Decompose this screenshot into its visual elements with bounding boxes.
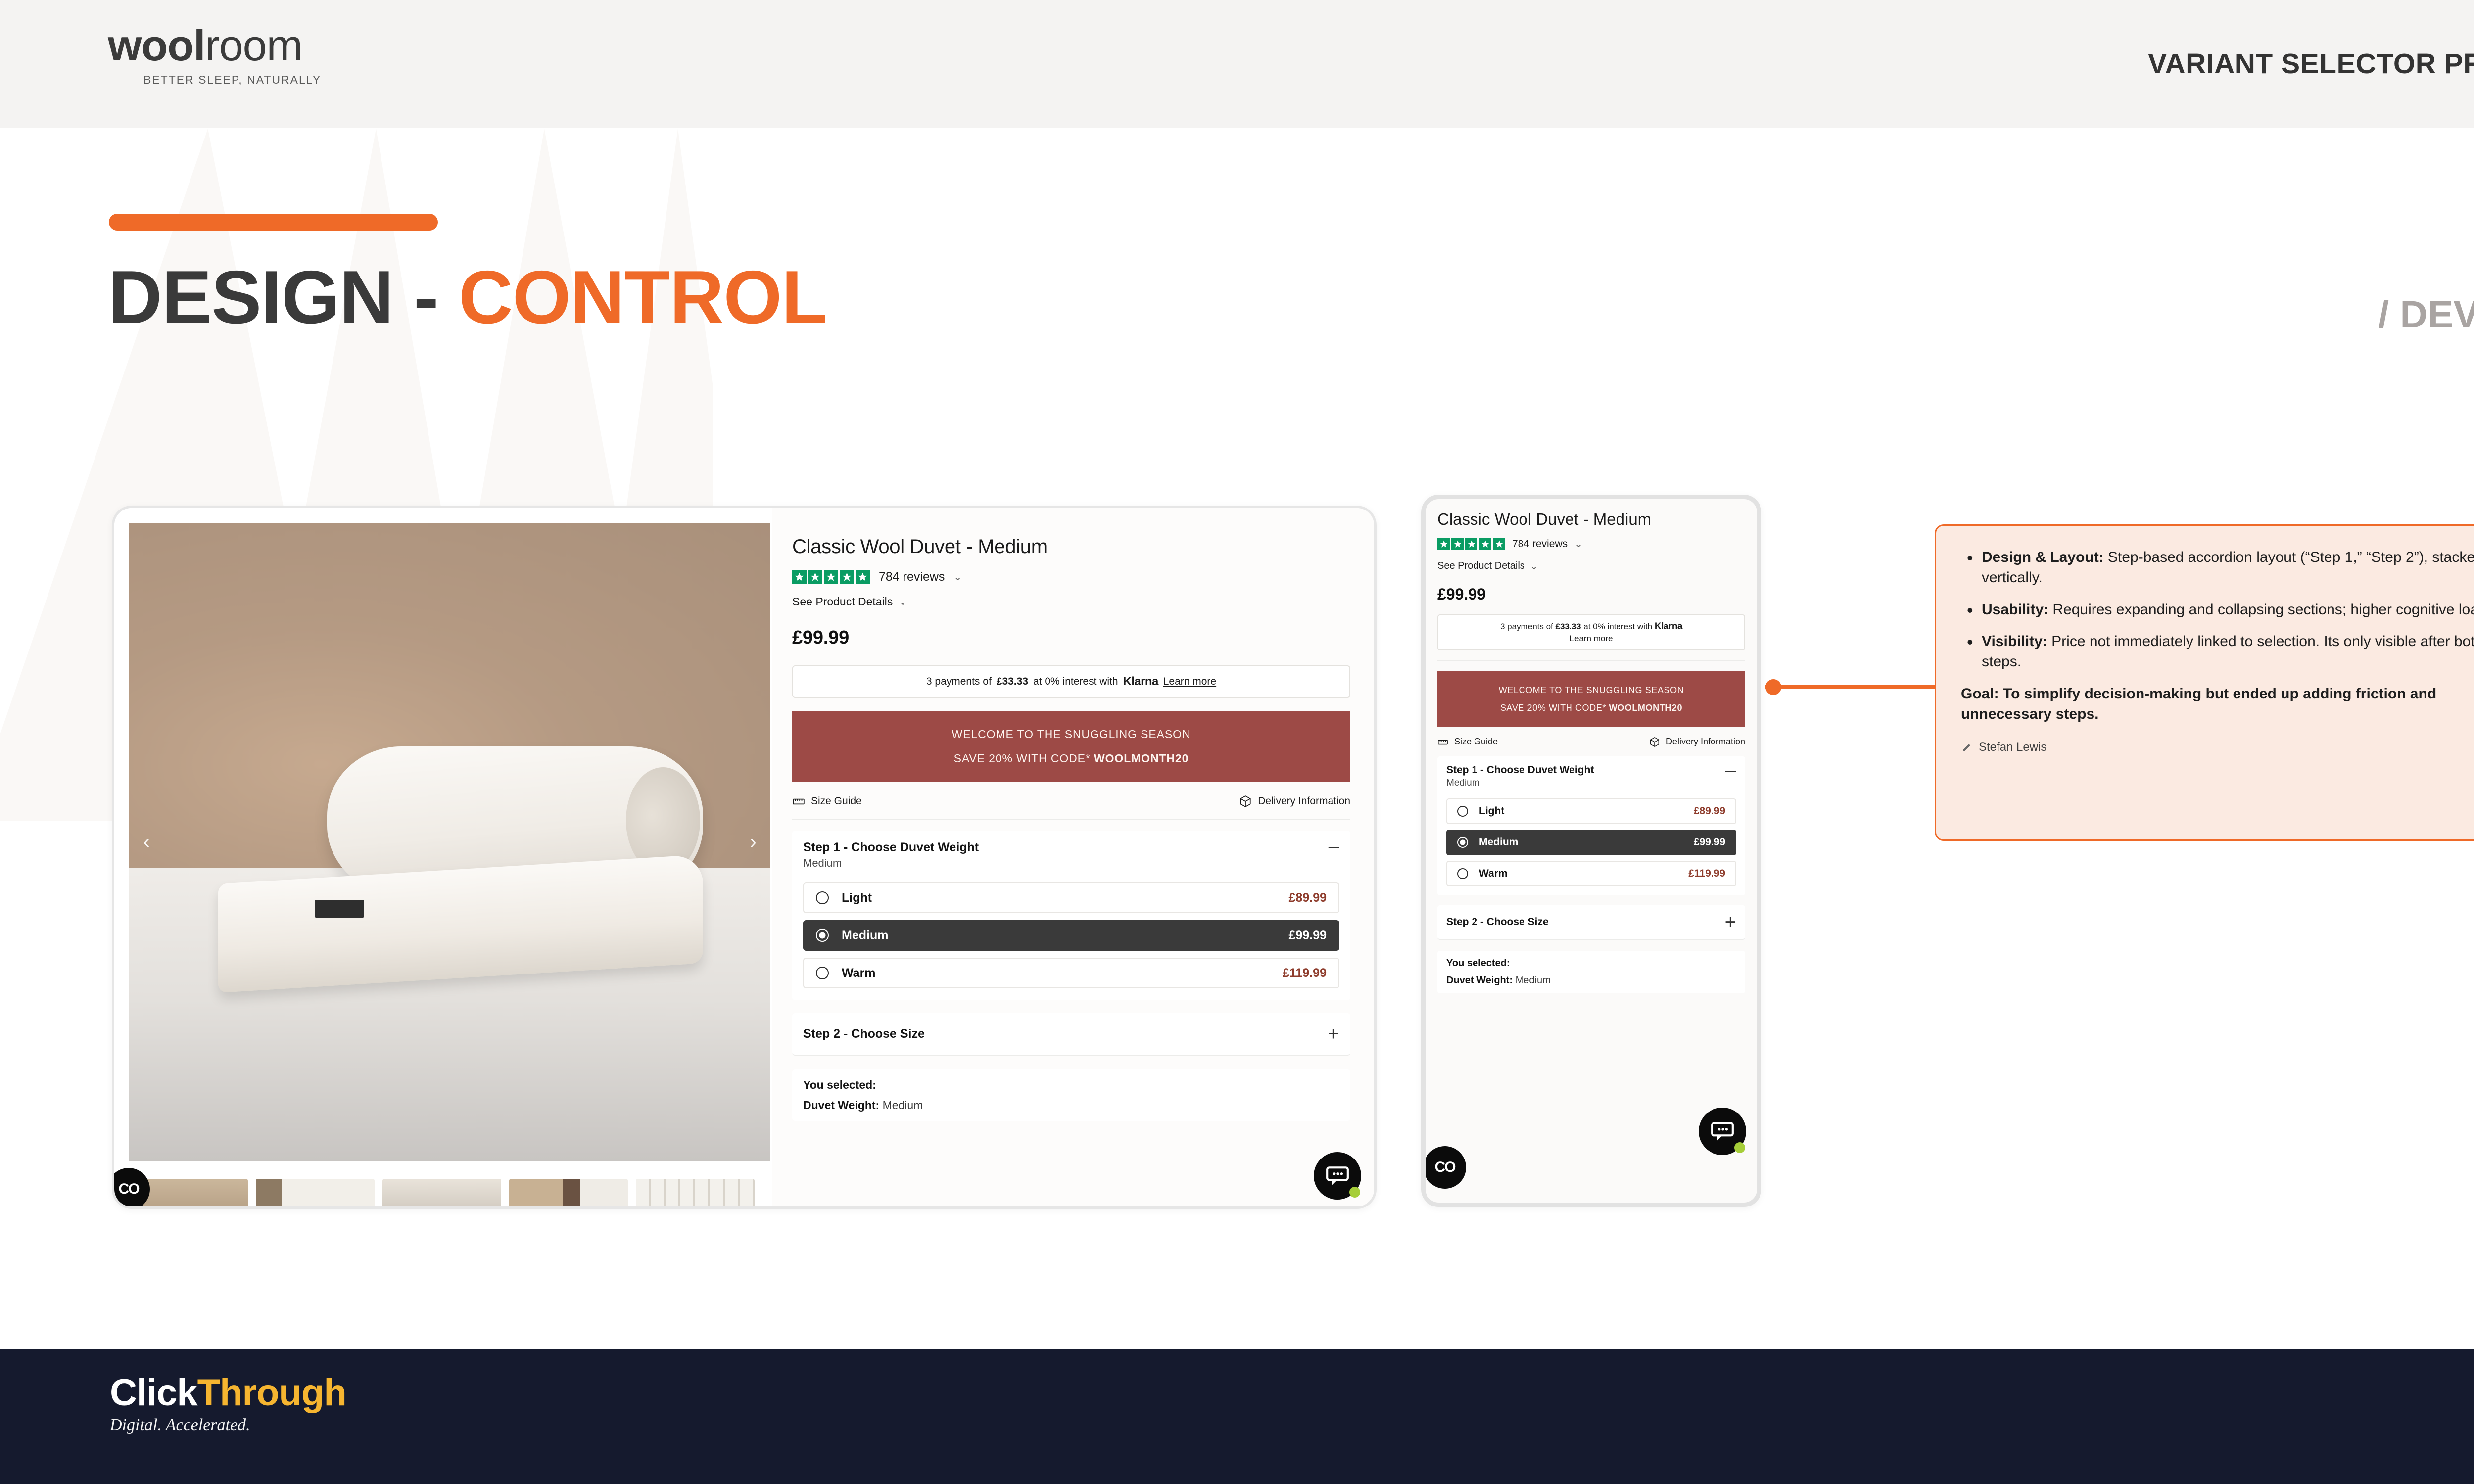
consent-badge[interactable]: CO <box>112 1168 150 1209</box>
consent-badge[interactable]: CO <box>1424 1146 1466 1189</box>
thumbnail-item[interactable] <box>636 1179 755 1208</box>
radio-icon-selected <box>1457 837 1468 848</box>
chevron-down-icon[interactable]: ⌄ <box>953 571 962 583</box>
callout-bullet-label: Design & Layout: <box>1982 549 2104 565</box>
star-rating <box>1437 538 1505 550</box>
option-label: Medium <box>842 928 888 943</box>
product-meta-row: Size Guide Delivery Information <box>792 795 1350 820</box>
size-guide-label: Size Guide <box>1454 737 1498 747</box>
step-2-card[interactable]: Step 2 - Choose Size + <box>1437 905 1745 940</box>
option-warm[interactable]: Warm £119.99 <box>803 958 1339 988</box>
product-price: £99.99 <box>792 627 1350 649</box>
chat-widget-button[interactable] <box>1314 1152 1361 1200</box>
klarna-amount: £33.33 <box>1556 622 1581 631</box>
star-icon <box>840 570 854 584</box>
promo-banner: WELCOME TO THE SNUGGLING SEASON SAVE 20%… <box>792 711 1350 782</box>
summary-line: Duvet Weight: Medium <box>1446 975 1736 986</box>
thumbnail-item[interactable] <box>256 1179 375 1208</box>
option-label: Warm <box>842 966 876 980</box>
chat-bubble-icon <box>1325 1163 1350 1188</box>
promo-line-2-pre: SAVE 20% WITH CODE* <box>954 752 1094 765</box>
clickthrough-logo: ClickThrough Digital. Accelerated. <box>110 1374 346 1435</box>
callout-connector-line <box>1765 685 1936 689</box>
callout-author-name: Stefan Lewis <box>1979 741 2046 754</box>
option-price: £89.99 <box>1694 805 1725 817</box>
step-2-expand-icon[interactable]: + <box>1328 1028 1339 1040</box>
radio-icon-selected <box>816 929 829 942</box>
option-label: Medium <box>1479 836 1518 848</box>
see-product-details-label: See Product Details <box>792 595 893 608</box>
divider <box>1437 660 1745 661</box>
klarna-banner[interactable]: 3 payments of £33.33 at 0% interest with… <box>792 665 1350 698</box>
product-price: £99.99 <box>1437 585 1745 603</box>
klarna-pre-text: 3 payments of <box>926 676 992 688</box>
klarna-learn-more-link[interactable]: Learn more <box>1570 634 1613 643</box>
ruler-icon <box>1437 737 1448 747</box>
radio-icon <box>816 891 829 904</box>
chat-widget-button[interactable] <box>1699 1108 1746 1155</box>
logo-click: Click <box>110 1372 197 1414</box>
option-label: Light <box>842 891 872 905</box>
summary-value: Medium <box>1513 975 1551 986</box>
chat-status-dot <box>1734 1142 1745 1153</box>
page-title-primary: DESIGN - <box>108 255 459 339</box>
step-1-card: Step 1 - Choose Duvet Weight Medium – Li… <box>1437 756 1745 895</box>
step-1-title: Step 1 - Choose Duvet Weight <box>1446 764 1594 776</box>
pen-icon <box>1961 742 1973 753</box>
duvet-weight-options: Light £89.99 Medium £99.99 Warm £119.99 <box>1446 798 1736 886</box>
product-title: Classic Wool Duvet - Medium <box>1437 510 1745 529</box>
product-details-panel: Classic Wool Duvet - Medium 784 reviews … <box>772 508 1374 1206</box>
summary-label: Duvet Weight: <box>1446 975 1513 986</box>
rating-row: 784 reviews ⌄ <box>792 570 1350 584</box>
package-icon <box>1239 795 1252 808</box>
delivery-info-link[interactable]: Delivery Information <box>1239 795 1350 808</box>
klarna-logo: Klarna <box>1655 621 1682 632</box>
callout-bullet-list: Design & Layout: Step-based accordion la… <box>1961 548 2474 672</box>
summary-heading: You selected: <box>803 1078 1339 1092</box>
mobile-mockup: Classic Wool Duvet - Medium 784 reviews … <box>1421 495 1761 1207</box>
option-medium[interactable]: Medium £99.99 <box>803 920 1339 951</box>
delivery-info-label: Delivery Information <box>1258 795 1350 807</box>
klarna-pre-text: 3 payments of <box>1500 622 1556 631</box>
promo-line-1: WELCOME TO THE SNUGGLING SEASON <box>952 728 1191 741</box>
callout-bullet: Visibility: Price not immediately linked… <box>1961 632 2474 672</box>
callout-bullet: Design & Layout: Step-based accordion la… <box>1961 548 2474 588</box>
size-guide-link[interactable]: Size Guide <box>792 795 862 808</box>
size-guide-link[interactable]: Size Guide <box>1437 737 1498 747</box>
promo-line-2-pre: SAVE 20% WITH CODE* <box>1500 703 1609 713</box>
carousel-prev-icon[interactable]: ‹ <box>133 829 160 855</box>
summary-heading: You selected: <box>1446 958 1736 969</box>
callout-author: Stefan Lewis <box>1961 741 2474 754</box>
callout-connector-dot <box>1765 679 1781 695</box>
phase-label: / DEVELOP <box>2379 293 2474 337</box>
klarna-mid-text: at 0% interest with <box>1033 676 1118 688</box>
chevron-down-icon: ⌄ <box>899 596 907 608</box>
summary-label: Duvet Weight: <box>803 1099 879 1112</box>
option-label: Warm <box>1479 868 1508 880</box>
option-label: Light <box>1479 805 1504 817</box>
promo-line-2: SAVE 20% WITH CODE* WOOLMONTH20 <box>1441 699 1741 717</box>
promo-code: WOOLMONTH20 <box>1094 752 1189 765</box>
star-icon <box>1451 538 1464 550</box>
clickthrough-wordmark: ClickThrough <box>110 1374 346 1412</box>
tablet-mockup: ‹ › CO Classic Wool Duvet - Medium <box>112 506 1377 1209</box>
delivery-info-label: Delivery Information <box>1666 737 1745 747</box>
radio-icon <box>1457 868 1468 879</box>
radio-icon <box>816 967 829 979</box>
size-guide-label: Size Guide <box>811 795 862 807</box>
top-bar: woolroom BETTER SLEEP, NATURALLY VARIANT… <box>0 0 2474 128</box>
step-2-expand-icon[interactable]: + <box>1725 916 1736 928</box>
gallery-thumbnails <box>129 1179 755 1208</box>
product-hero-image: ‹ › <box>129 523 770 1161</box>
callout-bullet-text: Requires expanding and collapsing sectio… <box>2048 602 2474 618</box>
see-product-details-label: See Product Details <box>1437 560 1525 572</box>
accent-rule <box>109 214 438 231</box>
product-title: Classic Wool Duvet - Medium <box>792 536 1350 558</box>
see-product-details-link[interactable]: See Product Details ⌄ <box>792 595 1350 608</box>
klarna-amount: £33.33 <box>997 676 1028 688</box>
star-icon <box>808 570 822 584</box>
selection-summary: You selected: Duvet Weight: Medium <box>792 1069 1350 1121</box>
rating-row: 784 reviews ⌄ <box>1437 538 1745 550</box>
step-1-title: Step 1 - Choose Duvet Weight <box>803 840 979 855</box>
summary-line: Duvet Weight: Medium <box>803 1099 1339 1112</box>
callout-bullet-label: Visibility: <box>1982 633 2047 649</box>
star-icon <box>824 570 838 584</box>
star-icon <box>856 570 870 584</box>
duvet-weight-options: Light £89.99 Medium £99.99 Warm £119.99 <box>803 882 1339 988</box>
callout-bullet: Usability: Requires expanding and collap… <box>1961 600 2474 620</box>
summary-value: Medium <box>879 1099 923 1112</box>
step-2-title: Step 2 - Choose Size <box>803 1027 925 1041</box>
klarna-learn-more-link[interactable]: Learn more <box>1163 676 1216 688</box>
duvet-label-tag <box>315 900 364 918</box>
thumbnail-item[interactable] <box>382 1179 501 1208</box>
page-title-accent: CONTROL <box>459 255 827 339</box>
woolroom-logo: woolroom BETTER SLEEP, NATURALLY <box>108 24 321 87</box>
logo-room: room <box>205 21 302 70</box>
selection-summary: You selected: Duvet Weight: Medium <box>1437 951 1745 993</box>
footer-bar: ClickThrough Digital. Accelerated. <box>0 1349 2474 1484</box>
step-2-card[interactable]: Step 2 - Choose Size + <box>792 1013 1350 1056</box>
step-1-subtitle: Medium <box>1446 778 1594 788</box>
chat-bubble-icon <box>1710 1119 1735 1144</box>
callout-bullet-label: Usability: <box>1982 602 2048 618</box>
step-1-collapse-icon[interactable]: – <box>1725 764 1736 776</box>
klarna-banner[interactable]: 3 payments of £33.33 at 0% interest with… <box>1437 614 1745 650</box>
product-meta-row: Size Guide Delivery Information <box>1437 737 1745 747</box>
option-price: £89.99 <box>1289 891 1327 905</box>
clickthrough-tagline: Digital. Accelerated. <box>110 1416 346 1435</box>
option-price: £99.99 <box>1694 836 1725 848</box>
radio-icon <box>1457 806 1468 817</box>
star-icon <box>1465 538 1477 550</box>
callout-bullet-text: Price not immediately linked to selectio… <box>1982 633 2474 670</box>
step-1-subtitle: Medium <box>803 857 979 870</box>
klarna-mid-text: at 0% interest with <box>1581 622 1655 631</box>
star-icon <box>1437 538 1450 550</box>
product-gallery: ‹ › CO <box>114 508 772 1206</box>
delivery-info-link[interactable]: Delivery Information <box>1649 737 1745 747</box>
option-price: £119.99 <box>1688 868 1725 880</box>
option-light[interactable]: Light £89.99 <box>1446 798 1736 824</box>
promo-code: WOOLMONTH20 <box>1609 703 1683 713</box>
promo-line-1: WELCOME TO THE SNUGGLING SEASON <box>1441 681 1741 699</box>
ruler-icon <box>792 795 805 808</box>
logo-wordmark: woolroom <box>108 24 321 67</box>
reviews-count[interactable]: 784 reviews <box>879 570 945 584</box>
promo-line-2: SAVE 20% WITH CODE* WOOLMONTH20 <box>954 752 1189 765</box>
chevron-down-icon[interactable]: ⌄ <box>1574 538 1583 550</box>
star-rating <box>792 570 870 584</box>
option-price: £99.99 <box>1289 928 1327 943</box>
step-1-collapse-icon[interactable]: – <box>1329 840 1339 852</box>
chevron-down-icon: ⌄ <box>1530 560 1538 572</box>
option-price: £119.99 <box>1283 966 1327 980</box>
star-icon <box>792 570 807 584</box>
see-product-details-link[interactable]: See Product Details ⌄ <box>1437 560 1745 572</box>
option-light[interactable]: Light £89.99 <box>803 882 1339 913</box>
star-icon <box>1479 538 1491 550</box>
page-title: DESIGN - CONTROL <box>108 260 827 335</box>
reviews-count[interactable]: 784 reviews <box>1512 538 1568 550</box>
step-2-title: Step 2 - Choose Size <box>1446 916 1549 928</box>
logo-tagline: BETTER SLEEP, NATURALLY <box>143 73 321 87</box>
logo-wool: wool <box>108 21 205 70</box>
option-medium[interactable]: Medium £99.99 <box>1446 830 1736 855</box>
step-1-card: Step 1 - Choose Duvet Weight Medium – Li… <box>792 831 1350 1000</box>
section-title: VARIANT SELECTOR PROCESS <box>2148 47 2474 80</box>
chat-status-dot <box>1349 1187 1360 1198</box>
star-icon <box>1493 538 1505 550</box>
promo-banner: WELCOME TO THE SNUGGLING SEASON SAVE 20%… <box>1437 671 1745 727</box>
thumbnail-item[interactable] <box>509 1179 628 1208</box>
package-icon <box>1649 737 1660 747</box>
callout-goal: Goal: To simplify decision-making but en… <box>1961 684 2474 725</box>
annotation-callout: Design & Layout: Step-based accordion la… <box>1935 524 2474 841</box>
option-warm[interactable]: Warm £119.99 <box>1446 861 1736 886</box>
klarna-logo: Klarna <box>1123 675 1158 689</box>
logo-through: Through <box>197 1372 346 1414</box>
carousel-next-icon[interactable]: › <box>740 829 766 855</box>
